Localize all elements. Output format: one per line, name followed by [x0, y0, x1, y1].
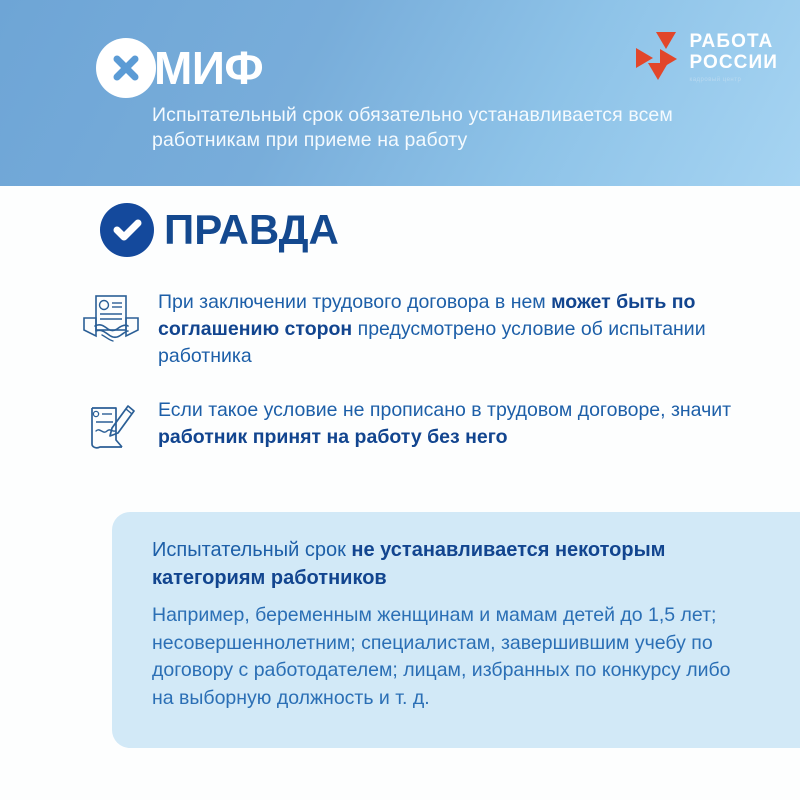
infographic-poster: РАБОТА РОССИИ кадровый центр МИФ Испытат… [0, 0, 800, 800]
fact-text: Если такое условие не прописано в трудов… [158, 396, 758, 451]
exceptions-note-card: Испытательный срок не устанавливается не… [112, 512, 800, 748]
brand-line-2: РОССИИ [689, 52, 778, 73]
note-card-body: Например, беременным женщинам и мамам де… [152, 602, 752, 712]
truth-title-row: ПРАВДА [100, 203, 339, 257]
document-pen-signature-icon [82, 398, 140, 456]
truth-title: ПРАВДА [164, 209, 339, 251]
fact-item: Если такое условие не прописано в трудов… [82, 396, 762, 456]
logo-triangle-down-top [656, 32, 676, 49]
fact-list: При заключении трудового договора в нем … [82, 288, 762, 482]
fact-text: При заключении трудового договора в нем … [158, 288, 758, 370]
myth-subtitle: Испытательный срок обязательно устанавли… [152, 103, 762, 153]
handshake-contract-icon [82, 290, 140, 348]
brand-subtitle: кадровый центр [689, 77, 778, 83]
brand-line-1: РАБОТА [689, 31, 778, 52]
four-triangles-logo-icon [636, 32, 680, 78]
check-circle-icon [100, 203, 154, 257]
brand-wordmark: РАБОТА РОССИИ кадровый центр [689, 30, 778, 83]
logo-triangle-down-bottom [648, 63, 668, 80]
brand-logo: РАБОТА РОССИИ кадровый центр [636, 30, 778, 83]
x-circle-icon [96, 38, 156, 98]
myth-title: МИФ [154, 45, 263, 91]
fact-item: При заключении трудового договора в нем … [82, 288, 762, 370]
note-card-lead: Испытательный срок не устанавливается не… [152, 536, 742, 592]
myth-title-row: МИФ [96, 38, 263, 98]
myth-header-band: РАБОТА РОССИИ кадровый центр МИФ Испытат… [0, 0, 800, 186]
